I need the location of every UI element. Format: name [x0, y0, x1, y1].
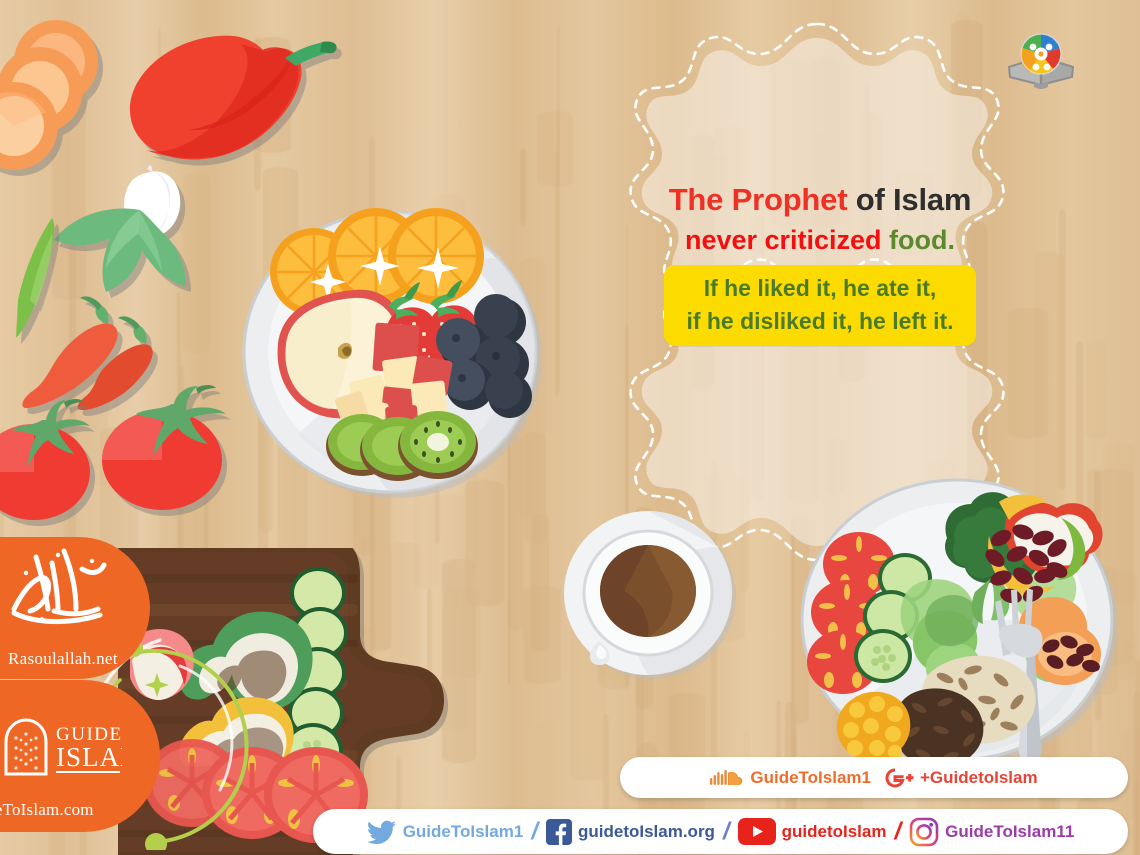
facebook-label: guidetoIslam.org [578, 822, 715, 842]
social-item-twitter[interactable]: GuideToIslam1 [367, 819, 524, 845]
separator-2: / [723, 818, 730, 846]
soundcloud-label: GuideToIslam1 [750, 768, 871, 788]
social-item-soundcloud[interactable]: GuideToIslam1 [710, 768, 871, 788]
quote-highlight-line-1: If he liked it, he ate it, [686, 272, 953, 305]
rasoulallah-brand-panel[interactable]: Rasoulallah.net [0, 537, 150, 679]
social-bar-bottom: GuideToIslam1 / guidetoIslam.org / guide… [313, 809, 1128, 854]
instagram-icon [909, 817, 939, 847]
tomato-right [102, 385, 226, 510]
fruit-plate [238, 198, 548, 508]
soundcloud-icon [710, 768, 744, 788]
quote-highlight-line-2: if he disliked it, he left it. [686, 305, 953, 338]
guide-to-islam-brand-panel[interactable]: GUIDE TO ISLAM GuideToIslam.com [0, 680, 160, 832]
rasoulallah-url-label: Rasoulallah.net [8, 649, 118, 669]
guide-to-islam-url-label: GuideToIslam.com [0, 800, 94, 820]
red-bell-pepper [130, 36, 337, 160]
twitter-icon [367, 819, 397, 845]
quote-block: The Prophet of Islam never criticized fo… [575, 182, 1065, 346]
social-item-google-plus[interactable]: +GuidetoIslam [884, 767, 1038, 789]
red-chili-peppers [22, 296, 152, 410]
guide-to-islam-globe-book-logo[interactable] [1003, 29, 1079, 91]
social-bar-top: GuideToIslam1 +GuidetoIslam [620, 757, 1128, 798]
youtube-label: guidetoIslam [782, 822, 887, 842]
quote-never-criticized: never criticized [685, 225, 882, 255]
google-plus-label: +GuidetoIslam [920, 768, 1038, 788]
quote-the-prophet: The Prophet [669, 182, 848, 217]
coffee-cup [550, 505, 750, 695]
rasoulallah-calligraphy-icon [6, 543, 114, 635]
poster-canvas: Rasoulallah.net GUIDE TO ISLAM GuideToIs… [0, 0, 1140, 855]
quote-of-islam: of Islam [847, 182, 971, 217]
quote-highlight-box: If he liked it, he ate it, if he dislike… [664, 265, 975, 346]
separator-1: / [531, 818, 538, 846]
guide-title-line2: ISLAM [56, 742, 122, 772]
quote-line-2: never criticized food. [575, 224, 1065, 256]
kiwi-slices [326, 411, 478, 481]
guide-to-islam-arch-logo-icon: GUIDE TO ISLAM [2, 716, 122, 778]
google-plus-icon [884, 767, 914, 789]
quote-food: food. [882, 225, 955, 255]
social-item-instagram[interactable]: GuideToIslam11 [909, 817, 1074, 847]
twitter-label: GuideToIslam1 [403, 822, 524, 842]
facebook-icon [546, 819, 572, 845]
carrot-slices [0, 20, 98, 170]
green-onion-stalk [16, 218, 54, 338]
quote-line-1: The Prophet of Islam [575, 182, 1065, 219]
salad-plate [795, 478, 1125, 778]
social-item-youtube[interactable]: guidetoIslam [738, 818, 887, 845]
youtube-icon [738, 818, 776, 845]
instagram-label: GuideToIslam11 [945, 822, 1074, 842]
tomato-left [0, 399, 90, 520]
separator-3: / [894, 818, 901, 846]
social-item-facebook[interactable]: guidetoIslam.org [546, 819, 715, 845]
